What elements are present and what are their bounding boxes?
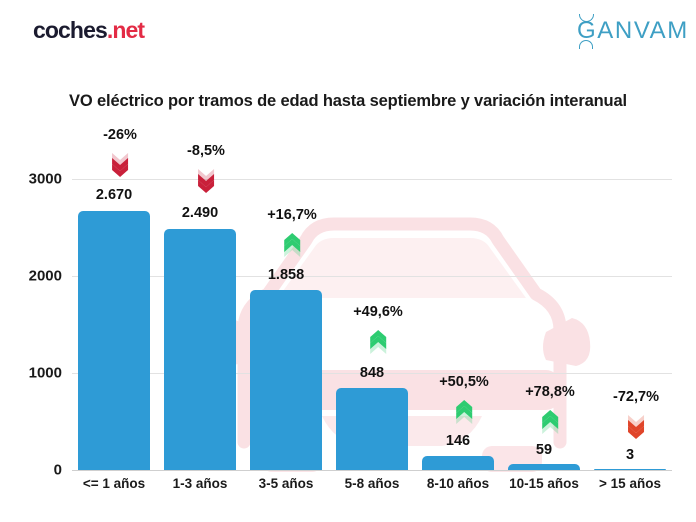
variation-label-1: -8,5% [187,144,225,159]
xtick-label-5: 10-15 años [509,476,579,491]
variation-label-0: -26% [103,128,137,143]
bar-2[interactable] [250,290,322,470]
value-label-3: 848 [360,365,384,381]
variation-group-4: +50,5% [439,375,489,425]
variation-group-3: +49,6% [353,305,403,355]
value-label-0: 2.670 [96,187,132,203]
arrow-up-icon [455,399,473,425]
ganvam-logo[interactable]: GANVAM [563,14,683,54]
variation-label-3: +49,6% [353,305,403,320]
arrow-up-icon [283,232,301,258]
value-label-6: 3 [626,447,634,463]
arrow-down-icon [111,152,129,178]
xtick-label-1: 1-3 años [173,476,228,491]
bar-4[interactable] [422,456,494,470]
ytick-label-1000: 1000 [4,365,62,382]
bar-0[interactable] [78,211,150,470]
page-header: coches.net GANVAM [0,0,696,68]
bar-5[interactable] [508,464,580,470]
logo-net-text: .net [107,17,144,43]
ytick-label-3000: 3000 [4,171,62,188]
xtick-label-4: 8-10 años [427,476,489,491]
xtick-label-6: > 15 años [599,476,661,491]
variation-group-5: +78,8% [525,385,575,435]
variation-label-6: -72,7% [613,390,659,405]
gridline-0 [72,470,672,471]
ytick-label-2000: 2000 [4,268,62,285]
chart-x-axis: <= 1 años 1-3 años 3-5 años 5-8 años 8-1… [72,476,672,500]
ganvam-logo-text: GANVAM [577,19,689,43]
gridline-2000 [72,276,672,277]
variation-label-4: +50,5% [439,375,489,390]
variation-group-1: -8,5% [187,144,225,194]
xtick-label-3: 5-8 años [345,476,400,491]
variation-label-5: +78,8% [525,385,575,400]
gridline-3000 [72,179,672,180]
chart-plot-area: 0 1000 2000 3000 2.670 2.490 1.858 848 1… [72,150,672,470]
logo-coches-text: coches [33,17,107,43]
xtick-label-2: 3-5 años [259,476,314,491]
value-label-1: 2.490 [182,205,218,221]
arrow-down-icon [627,414,645,440]
variation-group-0: -26% [103,128,137,178]
bar-3[interactable] [336,388,408,470]
variation-label-2: +16,7% [267,208,317,223]
bar-6[interactable] [594,469,666,470]
arrow-up-icon [369,329,387,355]
value-label-5: 59 [536,442,552,458]
arrow-up-icon [541,409,559,435]
ytick-label-0: 0 [4,462,62,479]
bar-1[interactable] [164,229,236,471]
xtick-label-0: <= 1 años [83,476,145,491]
variation-group-2: +16,7% [267,208,317,258]
arrow-down-icon [197,168,215,194]
ganvam-initial: G [577,17,597,44]
value-label-2: 1.858 [268,267,304,283]
value-label-4: 146 [446,433,470,449]
variation-group-6: -72,7% [613,390,659,440]
ganvam-rest: ANVAM [597,17,689,44]
coches-net-logo[interactable]: coches.net [33,19,144,42]
chart-title: VO eléctrico por tramos de edad hasta se… [0,92,696,111]
